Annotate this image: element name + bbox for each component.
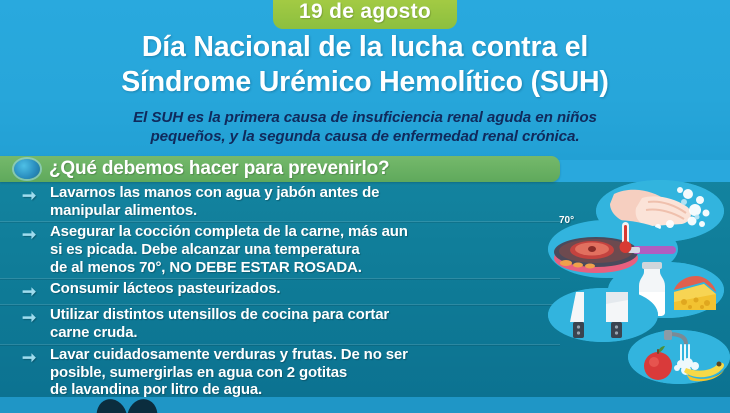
arrow-right-icon: ➞ [22,280,46,302]
logo-shape-left [92,397,130,413]
list-item: ➞ Lavarnos las manos con agua y jabón an… [0,183,560,222]
tip-text: Lavar cuidadosamente verduras y frutas. … [50,346,414,399]
tip-text: Utilizar distintos utensillos de cocina … [50,306,395,341]
tip-text: Asegurar la cocción completa de la carne… [50,223,414,276]
title-line-1: Día Nacional de la lucha contra el [0,30,730,65]
list-item: ➞ Lavar cuidadosamente verduras y frutas… [0,345,560,402]
arrow-right-icon: ➞ [22,306,46,328]
tip-text: Lavarnos las manos con agua y jabón ante… [50,184,385,219]
list-item: ➞ Asegurar la cocción completa de la car… [0,222,560,279]
subtitle-line-1: El SUH es la primera causa de insuficien… [0,108,730,127]
tip-text: Consumir lácteos pasteurizados. [50,280,286,298]
circle-bullet-icon [14,159,40,179]
infographic-poster: 19 de agosto Día Nacional de la lucha co… [0,0,730,413]
question-banner: ¿Qué debemos hacer para prevenirlo? [0,156,560,182]
date-badge: 19 de agosto [273,0,457,29]
bottom-logo-fragment [0,397,730,413]
logo-shape-right [125,397,161,413]
header-section: 19 de agosto Día Nacional de la lucha co… [0,0,730,160]
question-banner-label: ¿Qué debemos hacer para prevenirlo? [49,158,389,180]
arrow-right-icon: ➞ [22,346,46,368]
fruit-wash-icon [628,330,730,384]
prevention-tips-list: ➞ Lavarnos las manos con agua y jabón an… [0,183,560,413]
temperature-label: 70° [559,215,574,226]
title-line-2: Síndrome Urémico Hemolítico (SUH) [0,65,730,100]
list-item: ➞ Consumir lácteos pasteurizados. [0,279,560,305]
subtitle-line-2: pequeños, y la segunda causa de enfermed… [0,127,730,146]
arrow-right-icon: ➞ [22,223,46,245]
washing-fruit-illustration [628,330,730,384]
subtitle: El SUH es la primera causa de insuficien… [0,108,730,147]
list-item: ➞ Utilizar distintos utensillos de cocin… [0,305,560,344]
page-title: Día Nacional de la lucha contra el Síndr… [0,30,730,100]
arrow-right-icon: ➞ [22,184,46,206]
